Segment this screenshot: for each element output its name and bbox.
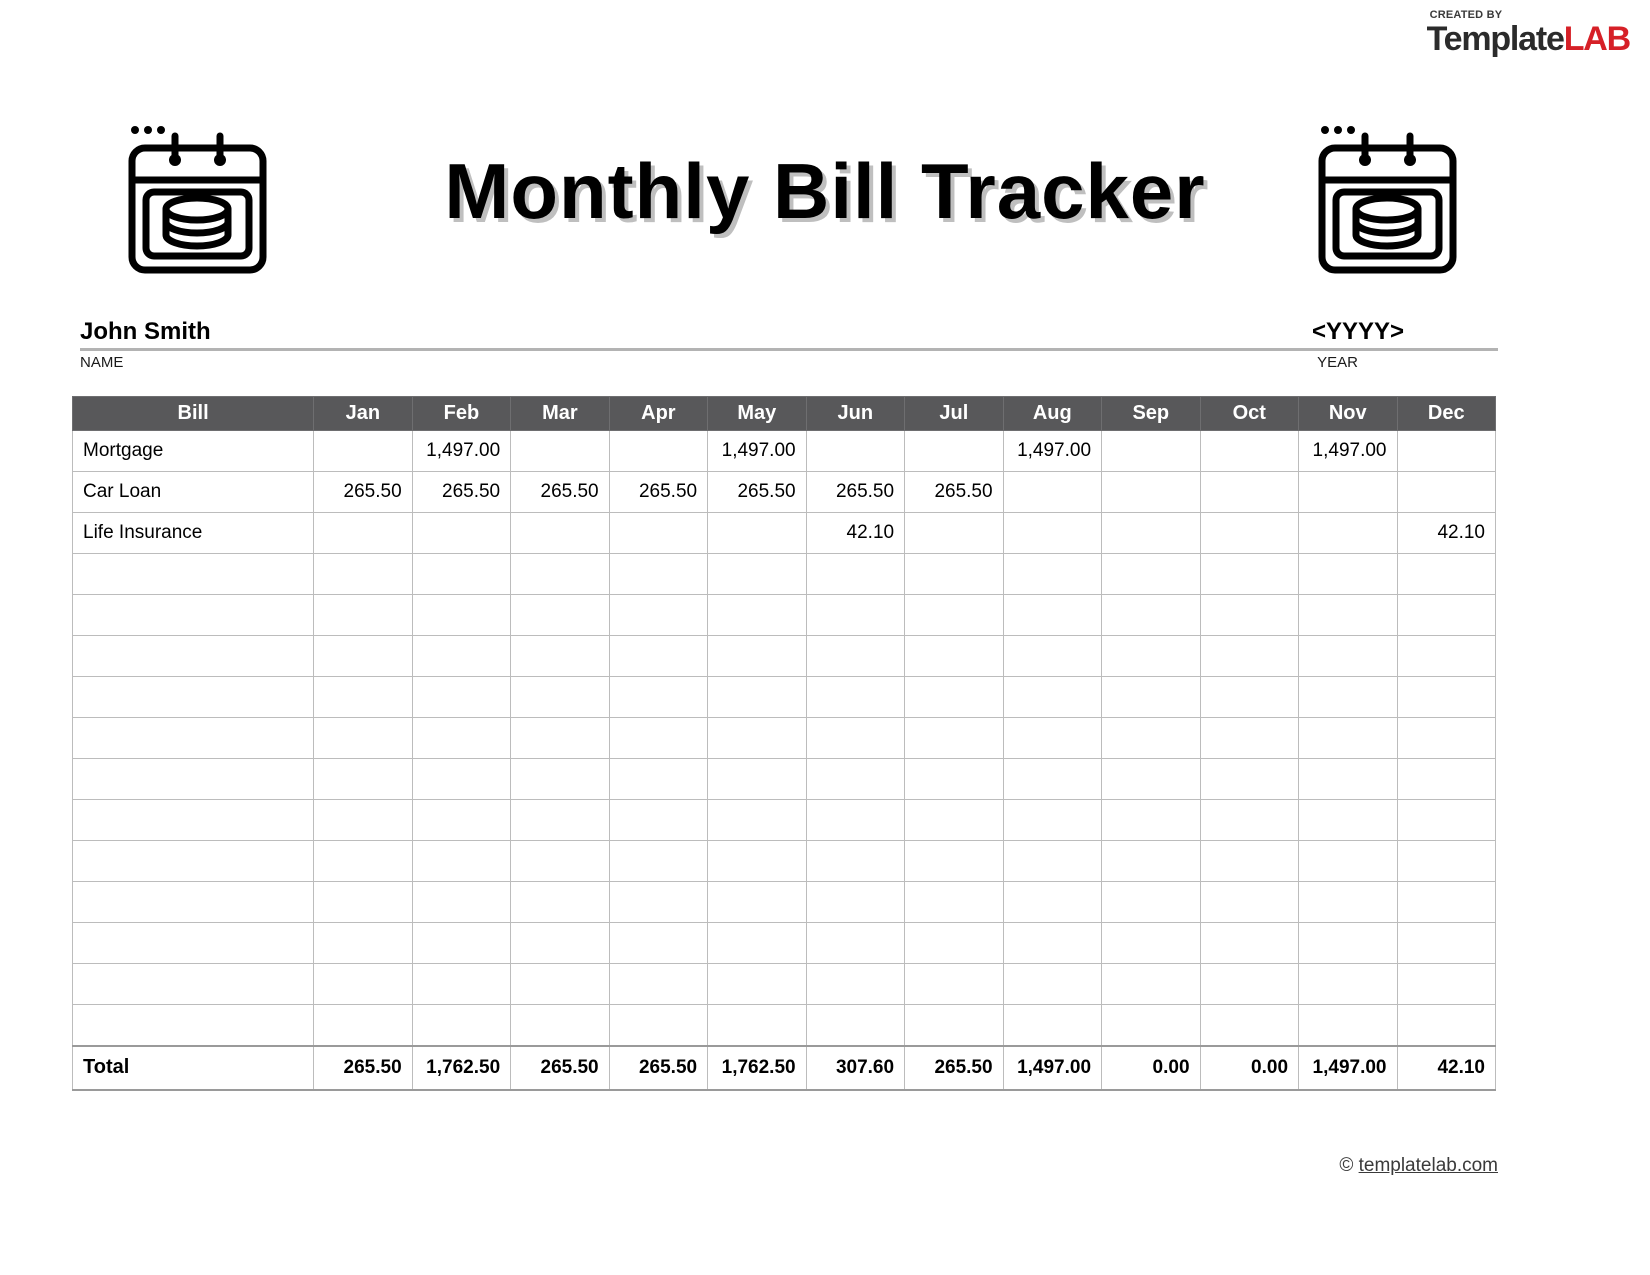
amount-cell-sep[interactable] [1102,718,1200,759]
amount-cell-dec[interactable] [1397,759,1496,800]
total-row: Total265.501,762.50265.50265.501,762.503… [73,1046,1496,1090]
amount-cell-dec[interactable] [1397,431,1496,472]
amount-cell-jan[interactable]: 265.50 [314,472,412,513]
total-cell-feb: 1,762.50 [412,1046,510,1090]
amount-cell-mar[interactable] [511,882,609,923]
column-header-jun: Jun [806,397,904,431]
amount-cell-oct[interactable] [1200,472,1298,513]
table-row [73,882,1496,923]
amount-cell-jul[interactable] [905,513,1003,554]
amount-cell-may[interactable] [708,1005,806,1046]
amount-cell-jul[interactable] [905,431,1003,472]
column-header-aug: Aug [1003,397,1101,431]
amount-cell-feb[interactable] [412,513,510,554]
bill-tracker-table-wrapper: BillJanFebMarAprMayJunJulAugSepOctNovDec… [72,396,1496,1091]
amount-cell-nov[interactable] [1299,718,1397,759]
amount-cell-dec[interactable] [1397,636,1496,677]
amount-cell-aug[interactable] [1003,841,1101,882]
amount-cell-may[interactable] [708,882,806,923]
amount-cell-nov[interactable] [1299,677,1397,718]
amount-cell-feb[interactable] [412,1005,510,1046]
templatelab-link[interactable]: templatelab.com [1359,1155,1498,1176]
bill-name-cell[interactable]: Car Loan [73,472,314,513]
amount-cell-nov[interactable]: 1,497.00 [1299,431,1397,472]
table-row: Mortgage1,497.001,497.001,497.001,497.00 [73,431,1496,472]
amount-cell-jan[interactable] [314,1005,412,1046]
bill-name-cell[interactable] [73,800,314,841]
amount-cell-nov[interactable] [1299,841,1397,882]
amount-cell-sep[interactable] [1102,595,1200,636]
amount-cell-oct[interactable] [1200,595,1298,636]
amount-cell-feb[interactable] [412,554,510,595]
amount-cell-mar[interactable] [511,595,609,636]
column-header-feb: Feb [412,397,510,431]
amount-cell-dec[interactable] [1397,923,1496,964]
amount-cell-jun[interactable] [806,677,904,718]
amount-cell-apr[interactable] [609,882,707,923]
amount-cell-may[interactable] [708,841,806,882]
amount-cell-jan[interactable] [314,759,412,800]
amount-cell-may[interactable] [708,923,806,964]
amount-cell-oct[interactable] [1200,554,1298,595]
amount-cell-nov[interactable] [1299,759,1397,800]
amount-cell-apr[interactable] [609,677,707,718]
amount-cell-jul[interactable] [905,554,1003,595]
amount-cell-apr[interactable] [609,1005,707,1046]
column-header-may: May [708,397,806,431]
bill-name-cell[interactable] [73,718,314,759]
amount-cell-mar[interactable] [511,718,609,759]
amount-cell-apr[interactable] [609,759,707,800]
brand-wordmark: TemplateLAB [1427,22,1630,56]
amount-cell-mar[interactable] [511,800,609,841]
amount-cell-aug[interactable] [1003,513,1101,554]
amount-cell-dec[interactable] [1397,595,1496,636]
column-header-jan: Jan [314,397,412,431]
amount-cell-mar[interactable]: 265.50 [511,472,609,513]
table-row [73,636,1496,677]
amount-cell-jan[interactable] [314,964,412,1005]
amount-cell-sep[interactable] [1102,636,1200,677]
amount-cell-aug[interactable] [1003,882,1101,923]
amount-cell-aug[interactable] [1003,554,1101,595]
amount-cell-jun[interactable]: 265.50 [806,472,904,513]
table-row [73,1005,1496,1046]
total-cell-jul: 265.50 [905,1046,1003,1090]
copyright-symbol: © [1339,1155,1353,1176]
amount-cell-dec[interactable] [1397,1005,1496,1046]
footer-copyright: © templatelab.com [1339,1155,1498,1177]
amount-cell-mar[interactable] [511,923,609,964]
amount-cell-oct[interactable] [1200,677,1298,718]
amount-cell-sep[interactable] [1102,1005,1200,1046]
amount-cell-jan[interactable] [314,431,412,472]
page-header: Monthly Bill Tracker [0,100,1650,290]
amount-cell-dec[interactable] [1397,964,1496,1005]
amount-cell-jan[interactable] [314,800,412,841]
amount-cell-aug[interactable] [1003,472,1101,513]
amount-cell-apr[interactable] [609,513,707,554]
amount-cell-oct[interactable] [1200,759,1298,800]
amount-cell-nov[interactable] [1299,513,1397,554]
table-row [73,718,1496,759]
amount-cell-mar[interactable] [511,636,609,677]
amount-cell-mar[interactable] [511,513,609,554]
column-header-dec: Dec [1397,397,1496,431]
amount-cell-oct[interactable] [1200,431,1298,472]
amount-cell-may[interactable] [708,595,806,636]
form-fields: John Smith <YYYY> NAME YEAR [80,318,1498,371]
amount-cell-feb[interactable]: 1,497.00 [412,431,510,472]
amount-cell-jul[interactable] [905,595,1003,636]
amount-cell-sep[interactable] [1102,472,1200,513]
amount-cell-oct[interactable] [1200,1005,1298,1046]
amount-cell-dec[interactable] [1397,841,1496,882]
amount-cell-aug[interactable] [1003,923,1101,964]
field-values-row: John Smith <YYYY> [80,318,1498,348]
amount-cell-dec[interactable] [1397,554,1496,595]
bill-name-cell[interactable] [73,759,314,800]
amount-cell-jun[interactable] [806,718,904,759]
amount-cell-jul[interactable] [905,923,1003,964]
amount-cell-apr[interactable] [609,431,707,472]
amount-cell-feb[interactable] [412,800,510,841]
amount-cell-jun[interactable] [806,882,904,923]
amount-cell-jun[interactable] [806,841,904,882]
amount-cell-jul[interactable] [905,964,1003,1005]
name-field-label: NAME [80,354,123,371]
amount-cell-jan[interactable] [314,636,412,677]
table-row [73,595,1496,636]
year-field-label: YEAR [1317,354,1498,371]
amount-cell-nov[interactable] [1299,554,1397,595]
total-label: Total [73,1046,314,1090]
amount-cell-feb[interactable] [412,636,510,677]
table-row [73,554,1496,595]
amount-cell-jan[interactable] [314,677,412,718]
amount-cell-feb[interactable] [412,677,510,718]
amount-cell-sep[interactable] [1102,841,1200,882]
amount-cell-oct[interactable] [1200,718,1298,759]
amount-cell-nov[interactable] [1299,964,1397,1005]
amount-cell-apr[interactable] [609,595,707,636]
amount-cell-jan[interactable] [314,595,412,636]
total-cell-apr: 265.50 [609,1046,707,1090]
amount-cell-nov[interactable] [1299,800,1397,841]
amount-cell-feb[interactable] [412,923,510,964]
amount-cell-oct[interactable] [1200,882,1298,923]
amount-cell-may[interactable] [708,636,806,677]
amount-cell-mar[interactable] [511,759,609,800]
amount-cell-jun[interactable] [806,554,904,595]
amount-cell-aug[interactable] [1003,718,1101,759]
amount-cell-sep[interactable] [1102,554,1200,595]
amount-cell-jul[interactable] [905,718,1003,759]
amount-cell-jul[interactable] [905,759,1003,800]
total-cell-jun: 307.60 [806,1046,904,1090]
amount-cell-jan[interactable] [314,841,412,882]
amount-cell-apr[interactable] [609,923,707,964]
amount-cell-dec[interactable] [1397,677,1496,718]
amount-cell-apr[interactable] [609,554,707,595]
bill-tracker-table: BillJanFebMarAprMayJunJulAugSepOctNovDec… [72,396,1496,1091]
amount-cell-sep[interactable] [1102,964,1200,1005]
amount-cell-may[interactable] [708,677,806,718]
amount-cell-mar[interactable] [511,841,609,882]
field-labels-row: NAME YEAR [80,351,1498,371]
amount-cell-sep[interactable] [1102,882,1200,923]
bill-name-cell[interactable] [73,923,314,964]
calendar-money-icon [1300,108,1475,288]
amount-cell-feb[interactable] [412,964,510,1005]
table-row: Car Loan265.50265.50265.50265.50265.5026… [73,472,1496,513]
column-header-mar: Mar [511,397,609,431]
amount-cell-jan[interactable] [314,882,412,923]
amount-cell-feb[interactable]: 265.50 [412,472,510,513]
table-row: Life Insurance42.1042.10 [73,513,1496,554]
column-header-apr: Apr [609,397,707,431]
amount-cell-jun[interactable] [806,595,904,636]
total-cell-nov: 1,497.00 [1299,1046,1397,1090]
amount-cell-jul[interactable] [905,1005,1003,1046]
amount-cell-may[interactable] [708,964,806,1005]
amount-cell-may[interactable] [708,718,806,759]
amount-cell-jun[interactable] [806,759,904,800]
amount-cell-dec[interactable] [1397,882,1496,923]
amount-cell-feb[interactable] [412,882,510,923]
amount-cell-oct[interactable] [1200,841,1298,882]
amount-cell-nov[interactable] [1299,882,1397,923]
amount-cell-may[interactable] [708,513,806,554]
column-header-bill: Bill [73,397,314,431]
templatelab-logo: CREATED BY TemplateLAB [1427,10,1630,56]
amount-cell-sep[interactable] [1102,759,1200,800]
amount-cell-apr[interactable] [609,800,707,841]
amount-cell-aug[interactable]: 1,497.00 [1003,431,1101,472]
amount-cell-aug[interactable] [1003,677,1101,718]
bill-name-cell[interactable]: Life Insurance [73,513,314,554]
amount-cell-may[interactable]: 265.50 [708,472,806,513]
total-cell-oct: 0.00 [1200,1046,1298,1090]
total-cell-may: 1,762.50 [708,1046,806,1090]
amount-cell-nov[interactable] [1299,1005,1397,1046]
amount-cell-oct[interactable] [1200,513,1298,554]
amount-cell-apr[interactable] [609,718,707,759]
amount-cell-mar[interactable] [511,964,609,1005]
amount-cell-feb[interactable] [412,759,510,800]
amount-cell-sep[interactable] [1102,923,1200,964]
amount-cell-feb[interactable] [412,595,510,636]
bill-name-cell[interactable] [73,841,314,882]
amount-cell-aug[interactable] [1003,759,1101,800]
amount-cell-nov[interactable] [1299,923,1397,964]
table-row [73,800,1496,841]
amount-cell-mar[interactable] [511,1005,609,1046]
amount-cell-jun[interactable]: 42.10 [806,513,904,554]
total-cell-mar: 265.50 [511,1046,609,1090]
amount-cell-dec[interactable]: 42.10 [1397,513,1496,554]
amount-cell-aug[interactable] [1003,1005,1101,1046]
bill-name-cell[interactable] [73,677,314,718]
amount-cell-may[interactable] [708,554,806,595]
amount-cell-apr[interactable] [609,964,707,1005]
column-header-nov: Nov [1299,397,1397,431]
amount-cell-jul[interactable]: 265.50 [905,472,1003,513]
table-row [73,759,1496,800]
amount-cell-feb[interactable] [412,718,510,759]
table-row [73,677,1496,718]
bill-name-cell[interactable] [73,882,314,923]
amount-cell-jun[interactable] [806,800,904,841]
amount-cell-jan[interactable] [314,554,412,595]
amount-cell-dec[interactable] [1397,718,1496,759]
amount-cell-sep[interactable] [1102,513,1200,554]
amount-cell-aug[interactable] [1003,800,1101,841]
amount-cell-jun[interactable] [806,431,904,472]
bill-name-cell[interactable] [73,964,314,1005]
amount-cell-jul[interactable] [905,841,1003,882]
name-field-value[interactable]: John Smith [80,318,211,346]
total-cell-sep: 0.00 [1102,1046,1200,1090]
bill-name-cell[interactable] [73,636,314,677]
amount-cell-oct[interactable] [1200,800,1298,841]
amount-cell-jan[interactable] [314,718,412,759]
column-header-oct: Oct [1200,397,1298,431]
amount-cell-nov[interactable] [1299,595,1397,636]
total-cell-jan: 265.50 [314,1046,412,1090]
amount-cell-apr[interactable] [609,636,707,677]
amount-cell-jun[interactable] [806,1005,904,1046]
total-cell-dec: 42.10 [1397,1046,1496,1090]
amount-cell-oct[interactable] [1200,636,1298,677]
amount-cell-aug[interactable] [1003,964,1101,1005]
amount-cell-sep[interactable] [1102,800,1200,841]
amount-cell-jul[interactable] [905,636,1003,677]
table-row [73,923,1496,964]
amount-cell-nov[interactable] [1299,636,1397,677]
amount-cell-mar[interactable] [511,431,609,472]
amount-cell-sep[interactable] [1102,677,1200,718]
amount-cell-jul[interactable] [905,882,1003,923]
amount-cell-aug[interactable] [1003,595,1101,636]
table-row [73,841,1496,882]
year-field-value[interactable]: <YYYY> [1312,318,1498,346]
amount-cell-jun[interactable] [806,964,904,1005]
amount-cell-may[interactable] [708,800,806,841]
amount-cell-apr[interactable]: 265.50 [609,472,707,513]
table-header-row: BillJanFebMarAprMayJunJulAugSepOctNovDec [73,397,1496,431]
amount-cell-dec[interactable] [1397,800,1496,841]
amount-cell-jan[interactable] [314,513,412,554]
bill-name-cell[interactable] [73,554,314,595]
amount-cell-jun[interactable] [806,636,904,677]
column-header-jul: Jul [905,397,1003,431]
amount-cell-dec[interactable] [1397,472,1496,513]
brand-template-text: Template [1427,20,1564,58]
amount-cell-may[interactable]: 1,497.00 [708,431,806,472]
amount-cell-apr[interactable] [609,841,707,882]
page-root: CREATED BY TemplateLAB [0,0,1650,1275]
amount-cell-mar[interactable] [511,554,609,595]
amount-cell-nov[interactable] [1299,472,1397,513]
amount-cell-sep[interactable] [1102,431,1200,472]
column-header-sep: Sep [1102,397,1200,431]
amount-cell-mar[interactable] [511,677,609,718]
amount-cell-oct[interactable] [1200,923,1298,964]
brand-lab-text: LAB [1564,20,1630,58]
amount-cell-jul[interactable] [905,800,1003,841]
amount-cell-oct[interactable] [1200,964,1298,1005]
table-row [73,964,1496,1005]
amount-cell-aug[interactable] [1003,636,1101,677]
amount-cell-may[interactable] [708,759,806,800]
bill-name-cell[interactable] [73,1005,314,1046]
amount-cell-jun[interactable] [806,923,904,964]
amount-cell-jan[interactable] [314,923,412,964]
amount-cell-feb[interactable] [412,841,510,882]
amount-cell-jul[interactable] [905,677,1003,718]
total-cell-aug: 1,497.00 [1003,1046,1101,1090]
bill-name-cell[interactable] [73,595,314,636]
bill-name-cell[interactable]: Mortgage [73,431,314,472]
